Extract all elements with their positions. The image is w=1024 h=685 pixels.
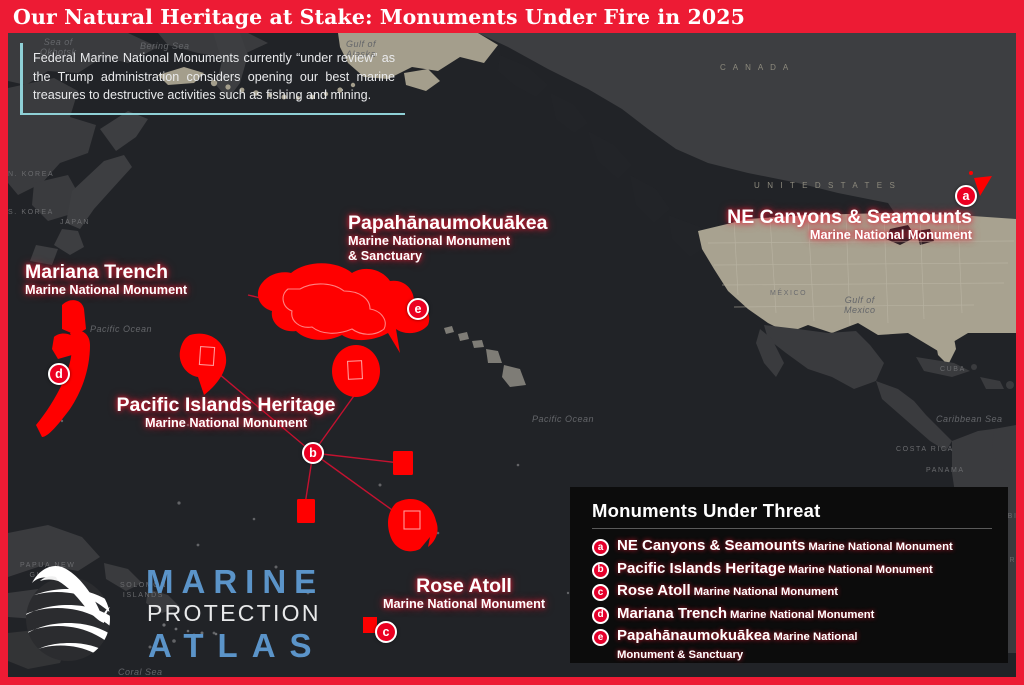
map-label-rose-atoll-sub: Marine National Monument	[364, 597, 564, 612]
logo-wordmark: MARINE PROTECTION ATLAS	[146, 565, 326, 662]
map-label-pacific-islands-name: Pacific Islands Heritage	[106, 395, 346, 416]
legend-name-e: Papahānaumokuākea	[617, 627, 770, 644]
legend-badge-e: e	[592, 629, 609, 646]
legend-name-c: Rose Atoll	[617, 582, 691, 599]
legend-item-ne-canyons[interactable]: a NE Canyons & SeamountsMarine National …	[592, 536, 992, 557]
logo-word-marine: MARINE	[146, 565, 326, 598]
legend-text-b: Pacific Islands HeritageMarine National …	[617, 559, 933, 580]
legend-badge-c: c	[592, 584, 609, 601]
map-label-mariana-trench-name: Mariana Trench	[25, 262, 187, 283]
legend-badge-b: b	[592, 562, 609, 579]
map-marker-c[interactable]: c	[375, 621, 397, 643]
map-label-papahanaumokuakea-name: Papahānaumokuākea	[348, 213, 547, 234]
legend-sub-c: Marine National Monument	[694, 586, 838, 598]
description-text: Federal Marine National Monuments curren…	[33, 49, 395, 105]
globe-dolphin-icon	[16, 561, 120, 665]
legend-badge-d: d	[592, 607, 609, 624]
map-label-ne-canyons-name: NE Canyons & Seamounts	[702, 207, 972, 228]
map-label-mariana-trench: Mariana Trench Marine National Monument	[25, 262, 187, 298]
map-label-papahanaumokuakea-sub1: Marine National Monument	[348, 234, 547, 249]
legend-sub-e: Marine National	[773, 631, 857, 643]
legend-sub-a: Marine National Monument	[808, 541, 952, 553]
legend-text-e: PapahānaumokuākeaMarine National Monumen…	[617, 626, 858, 664]
legend-name-b: Pacific Islands Heritage	[617, 560, 785, 577]
legend-cont-e: Monument & Sanctuary	[617, 647, 858, 664]
logo-word-protection: PROTECTION	[147, 602, 326, 625]
legend-text-d: Mariana TrenchMarine National Monument	[617, 604, 874, 625]
map-label-rose-atoll: Rose Atoll Marine National Monument	[364, 576, 564, 612]
map-label-ne-canyons: NE Canyons & Seamounts Marine National M…	[702, 207, 972, 243]
legend-title: Monuments Under Threat	[592, 500, 992, 529]
legend-text-c: Rose AtollMarine National Monument	[617, 581, 838, 602]
map-marker-e[interactable]: e	[407, 298, 429, 320]
map-label-papahanaumokuakea-sub2: & Sanctuary	[348, 249, 547, 264]
legend-item-papahanaumokuakea[interactable]: e PapahānaumokuākeaMarine National Monum…	[592, 626, 992, 664]
legend-sub-d: Marine National Monument	[730, 609, 874, 621]
map-label-ne-canyons-sub: Marine National Monument	[702, 228, 972, 243]
map-marker-b[interactable]: b	[302, 442, 324, 464]
legend-text-a: NE Canyons & SeamountsMarine National Mo…	[617, 536, 953, 557]
map-label-papahanaumokuakea: Papahānaumokuākea Marine National Monume…	[348, 213, 547, 264]
marine-protection-atlas-logo: MARINE PROTECTION ATLAS	[16, 553, 316, 673]
logo-word-atlas: ATLAS	[148, 629, 326, 662]
map-label-mariana-trench-sub: Marine National Monument	[25, 283, 187, 298]
map-marker-a[interactable]: a	[955, 185, 977, 207]
map-label-pacific-islands-sub: Marine National Monument	[106, 416, 346, 431]
map-canvas[interactable]: Bering Sea Sea ofOkhotsk Gulf ofAlaska C…	[8, 33, 1016, 677]
description-box: Federal Marine National Monuments curren…	[20, 43, 405, 115]
title-bar: Our Natural Heritage at Stake: Monuments…	[0, 0, 1024, 33]
legend-name-a: NE Canyons & Seamounts	[617, 537, 805, 554]
map-marker-d[interactable]: d	[48, 363, 70, 385]
legend-panel: Monuments Under Threat a NE Canyons & Se…	[570, 487, 1008, 663]
map-label-rose-atoll-name: Rose Atoll	[364, 576, 564, 597]
legend-badge-a: a	[592, 539, 609, 556]
legend-item-mariana-trench[interactable]: d Mariana TrenchMarine National Monument	[592, 604, 992, 625]
poster-root: Our Natural Heritage at Stake: Monuments…	[0, 0, 1024, 685]
legend-name-d: Mariana Trench	[617, 605, 727, 622]
legend-item-pacific-islands[interactable]: b Pacific Islands HeritageMarine Nationa…	[592, 559, 992, 580]
map-label-pacific-islands: Pacific Islands Heritage Marine National…	[106, 395, 346, 431]
page-title: Our Natural Heritage at Stake: Monuments…	[0, 5, 745, 29]
legend-item-rose-atoll[interactable]: c Rose AtollMarine National Monument	[592, 581, 992, 602]
shape-papahanaumokuakea	[258, 263, 429, 353]
legend-sub-b: Marine National Monument	[788, 564, 932, 576]
